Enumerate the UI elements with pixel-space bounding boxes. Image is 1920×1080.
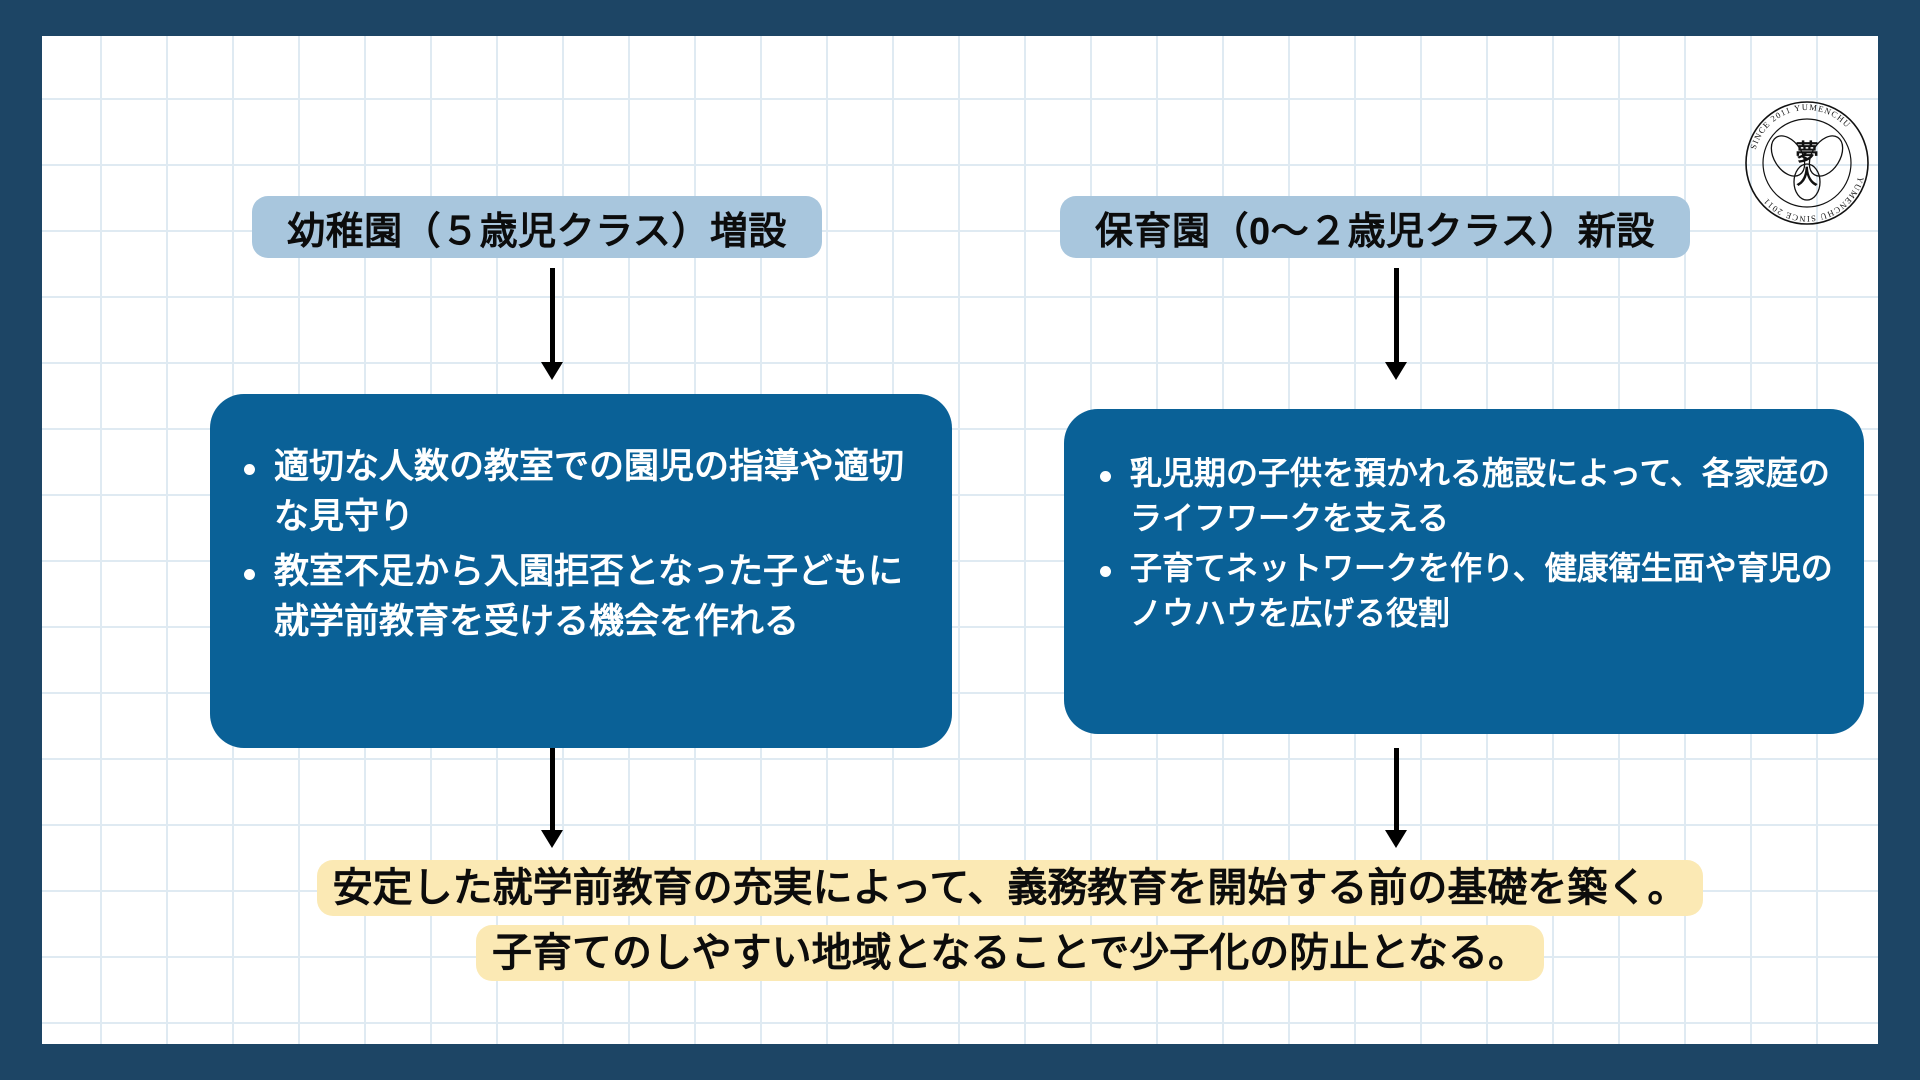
list-item: 教室不足から入園拒否となった子どもに就学前教育を受ける機会を作れる	[232, 547, 918, 646]
conclusion-line-2: 子育てのしやすい地域となることで少子化の防止となる。	[476, 925, 1544, 981]
benefit-card-kindergarten: 適切な人数の教室での園児の指導や適切な見守り 教室不足から入園拒否となった子ども…	[210, 394, 952, 748]
list-item: 乳児期の子供を預かれる施設によって、各家庭のライフワークを支える	[1088, 451, 1834, 542]
svg-text:人: 人	[1796, 165, 1819, 189]
conclusion-banner: 安定した就学前教育の充実によって、義務教育を開始する前の基礎を築く。 子育てのし…	[260, 856, 1760, 986]
list-item: 子育てネットワークを作り、健康衛生面や育児のノウハウを広げる役割	[1088, 546, 1834, 637]
svg-text:夢: 夢	[1796, 140, 1819, 165]
list-item: 適切な人数の教室での園児の指導や適切な見守り	[232, 442, 918, 541]
conclusion-line-1: 安定した就学前教育の充実によって、義務教育を開始する前の基礎を築く。	[317, 860, 1704, 916]
yumenchu-stamp-logo: SINCE 2011 YUMENCHU YUMENCHU SINCE 2011 …	[1742, 98, 1872, 228]
grid-canvas: SINCE 2011 YUMENCHU YUMENCHU SINCE 2011 …	[42, 36, 1878, 1044]
benefit-card-nursery: 乳児期の子供を預かれる施設によって、各家庭のライフワークを支える 子育てネットワ…	[1064, 409, 1864, 734]
column-header-kindergarten: 幼稚園（５歳児クラス）増設	[252, 196, 822, 258]
slide-root: SINCE 2011 YUMENCHU YUMENCHU SINCE 2011 …	[0, 0, 1920, 1080]
bullet-list-kindergarten: 適切な人数の教室での園児の指導や適切な見守り 教室不足から入園拒否となった子ども…	[232, 442, 918, 647]
column-header-nursery: 保育園（0〜２歳児クラス）新設	[1060, 196, 1690, 258]
bullet-list-nursery: 乳児期の子供を預かれる施設によって、各家庭のライフワークを支える 子育てネットワ…	[1088, 451, 1834, 637]
